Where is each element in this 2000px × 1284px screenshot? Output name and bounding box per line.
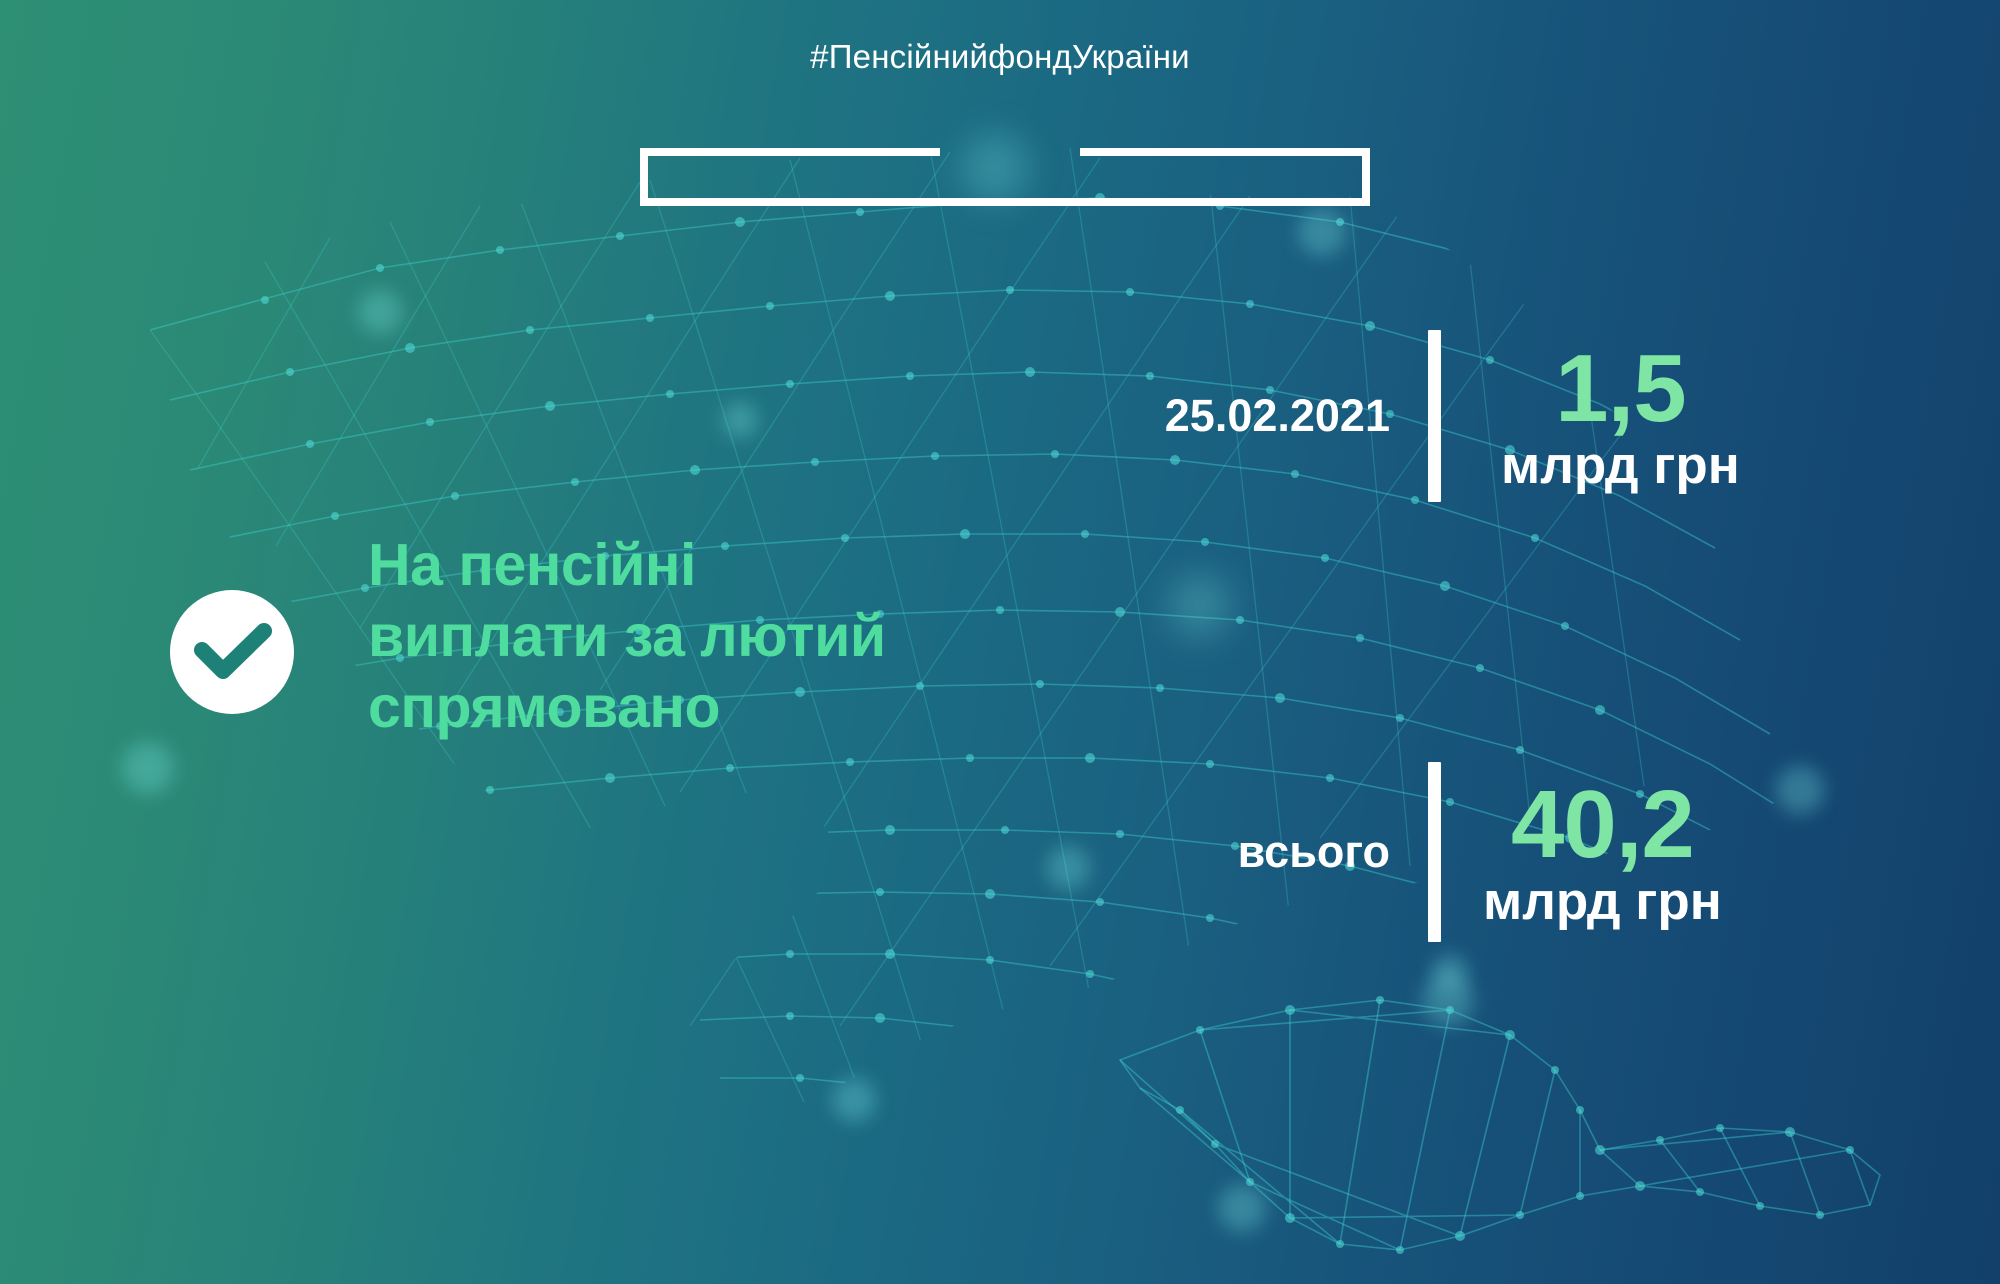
title-frame-top-right-edge (1080, 148, 1370, 156)
headline-line-2: виплати за лютий (368, 601, 1028, 672)
stat-block-february: 25.02.2021 1,5 млрд грн (1160, 330, 1740, 502)
hashtag-text: #ПенсійнийфондУкраїни (0, 38, 2000, 76)
stat-divider-rule (1428, 762, 1441, 942)
stat-values: 40,2 млрд грн (1483, 777, 1722, 928)
stat-value-february: 1,5 (1501, 341, 1740, 437)
stat-block-total: всього 40,2 млрд грн (1160, 762, 1722, 942)
page-headline: На пенсійні виплати за лютий спрямовано (368, 530, 1028, 742)
check-circle-icon (168, 588, 296, 716)
title-frame (640, 148, 1370, 206)
stat-value-total: 40,2 (1483, 777, 1722, 873)
stat-label-total: всього (1160, 826, 1390, 878)
title-frame-top-left-edge (640, 148, 940, 156)
headline-line-3: спрямовано (368, 672, 1028, 743)
headline-line-1: На пенсійні (368, 530, 1028, 601)
stat-values: 1,5 млрд грн (1501, 341, 1740, 492)
title-frame-bottom-edge (640, 198, 1370, 206)
stat-label-date: 25.02.2021 (1160, 390, 1390, 442)
stat-divider-rule (1428, 330, 1441, 502)
infographic-canvas: #ПенсійнийфондУкраїни На пенсійні виплат… (0, 0, 2000, 1284)
stat-unit-total: млрд грн (1483, 875, 1722, 928)
stat-unit-february: млрд грн (1501, 439, 1740, 492)
